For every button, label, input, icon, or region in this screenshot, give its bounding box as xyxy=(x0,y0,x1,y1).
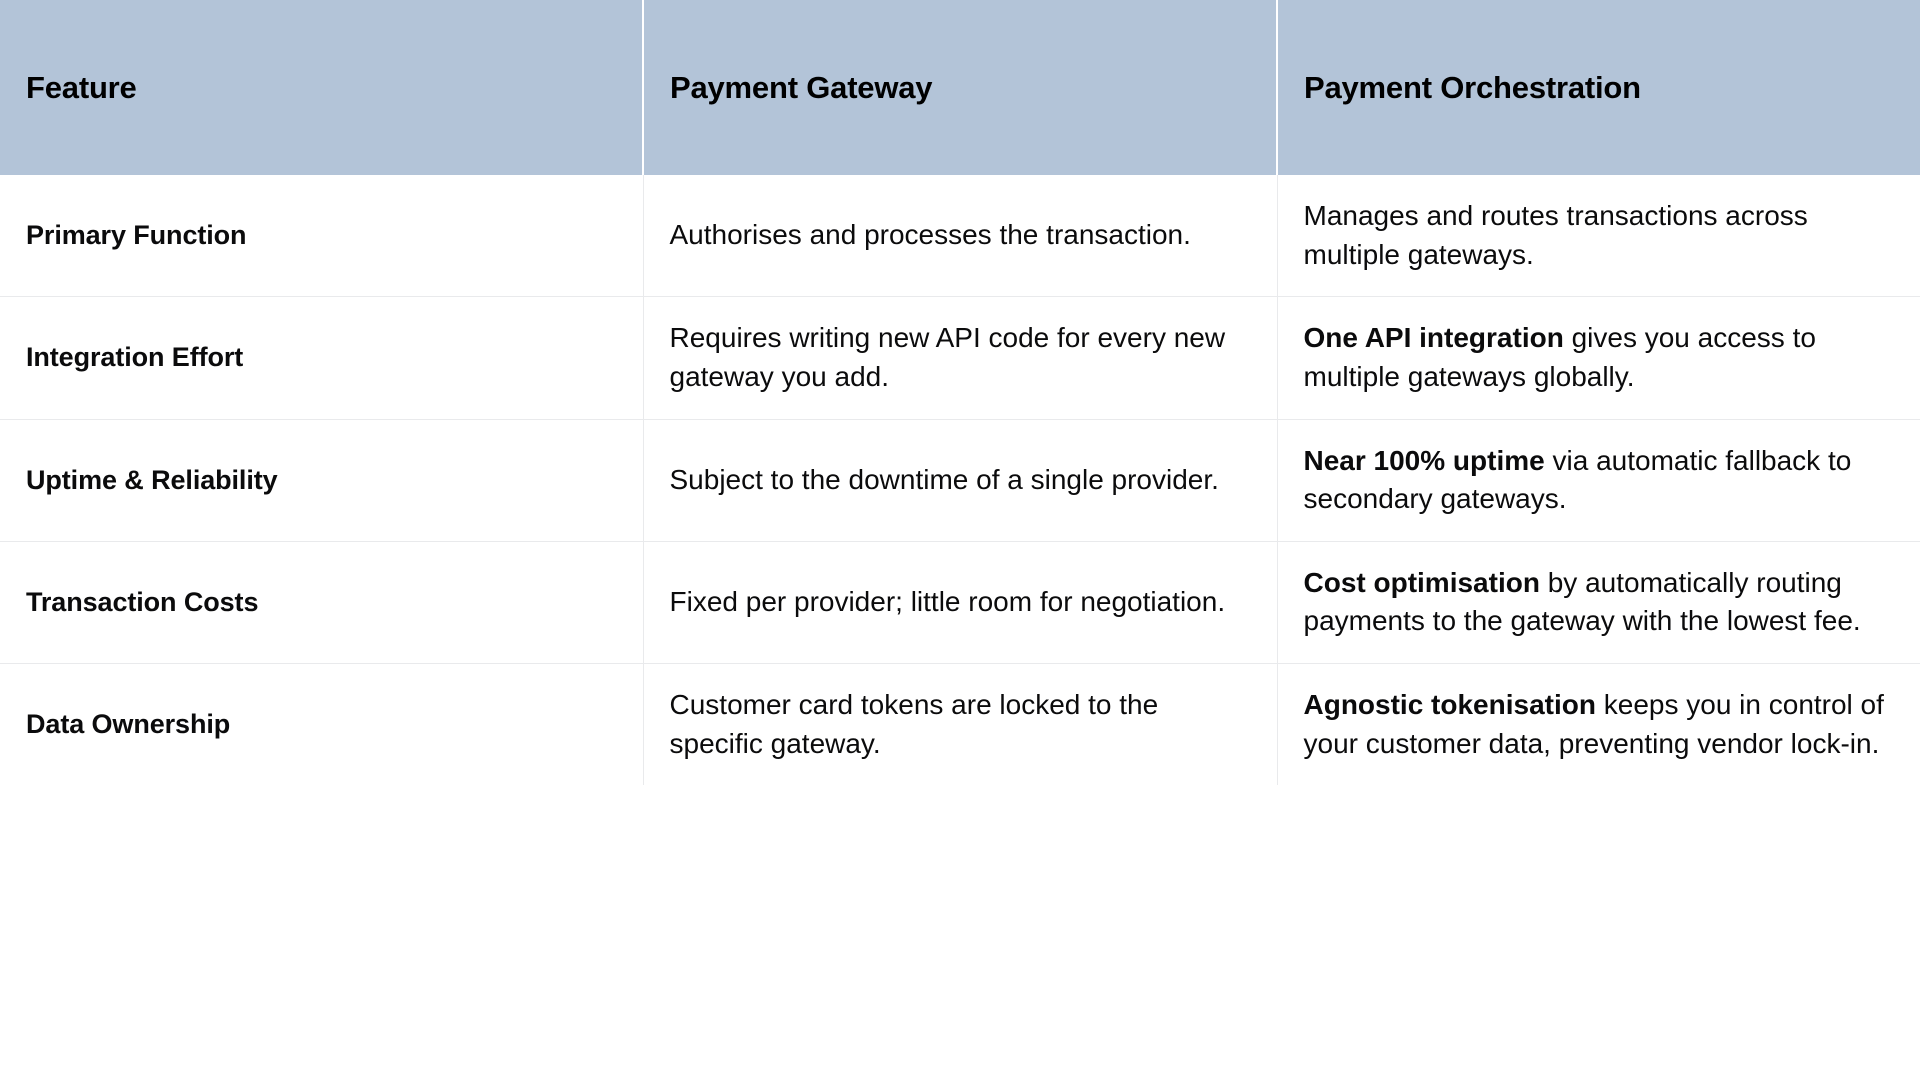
feature-label: Transaction Costs xyxy=(0,541,643,663)
table-row: Integration Effort Requires writing new … xyxy=(0,297,1920,419)
gateway-description: Customer card tokens are locked to the s… xyxy=(643,664,1277,786)
table-row: Transaction Costs Fixed per provider; li… xyxy=(0,541,1920,663)
feature-label: Data Ownership xyxy=(0,664,643,786)
orchestration-highlight: Cost optimisation xyxy=(1304,567,1540,598)
orchestration-description: Near 100% uptime via automatic fallback … xyxy=(1277,419,1920,541)
feature-label: Uptime & Reliability xyxy=(0,419,643,541)
table-row: Uptime & Reliability Subject to the down… xyxy=(0,419,1920,541)
gateway-description: Subject to the downtime of a single prov… xyxy=(643,419,1277,541)
table-body: Primary Function Authorises and processe… xyxy=(0,175,1920,785)
orchestration-description: One API integration gives you access to … xyxy=(1277,297,1920,419)
gateway-description: Requires writing new API code for every … xyxy=(643,297,1277,419)
gateway-description: Fixed per provider; little room for nego… xyxy=(643,541,1277,663)
column-header-payment-orchestration: Payment Orchestration xyxy=(1277,0,1920,175)
orchestration-highlight: One API integration xyxy=(1304,322,1564,353)
table-header: Feature Payment Gateway Payment Orchestr… xyxy=(0,0,1920,175)
feature-label: Integration Effort xyxy=(0,297,643,419)
table-row: Primary Function Authorises and processe… xyxy=(0,175,1920,297)
orchestration-highlight: Agnostic tokenisation xyxy=(1304,689,1596,720)
column-header-feature: Feature xyxy=(0,0,643,175)
orchestration-description: Manages and routes transactions across m… xyxy=(1277,175,1920,297)
comparison-table: Feature Payment Gateway Payment Orchestr… xyxy=(0,0,1920,785)
orchestration-description: Cost optimisation by automatically routi… xyxy=(1277,541,1920,663)
orchestration-text: Manages and routes transactions across m… xyxy=(1304,200,1808,270)
orchestration-highlight: Near 100% uptime xyxy=(1304,445,1545,476)
header-row: Feature Payment Gateway Payment Orchestr… xyxy=(0,0,1920,175)
gateway-description: Authorises and processes the transaction… xyxy=(643,175,1277,297)
feature-label: Primary Function xyxy=(0,175,643,297)
orchestration-description: Agnostic tokenisation keeps you in contr… xyxy=(1277,664,1920,786)
table-row: Data Ownership Customer card tokens are … xyxy=(0,664,1920,786)
column-header-payment-gateway: Payment Gateway xyxy=(643,0,1277,175)
